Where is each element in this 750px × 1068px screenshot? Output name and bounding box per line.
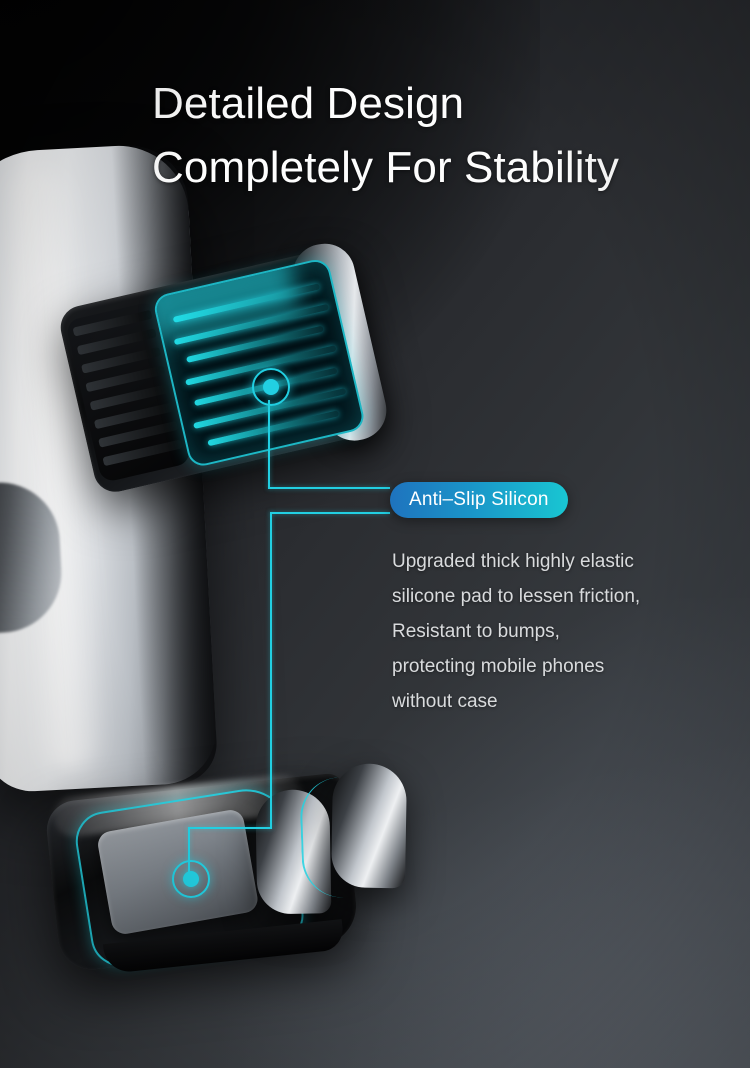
background-vignette (0, 0, 750, 1068)
promo-banner: Detailed Design Completely For Stability… (0, 0, 750, 1068)
